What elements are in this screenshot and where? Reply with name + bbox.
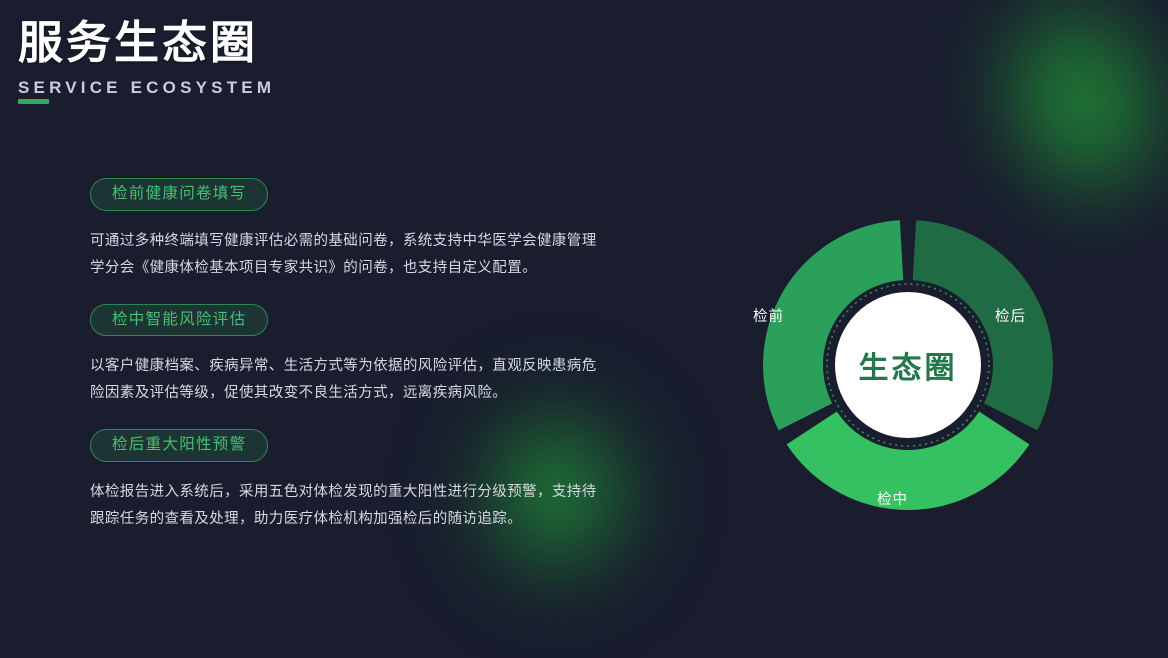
feature-block-1: 检前健康问卷填写 可通过多种终端填写健康评估必需的基础问卷，系统支持中华医学会健… bbox=[90, 178, 615, 282]
feature-text-1: 可通过多种终端填写健康评估必需的基础问卷，系统支持中华医学会健康管理学分会《健康… bbox=[90, 228, 602, 282]
feature-block-3: 检后重大阳性预警 体检报告进入系统后，采用五色对体检发现的重大阳性进行分级预警，… bbox=[90, 429, 615, 533]
feature-block-2: 检中智能风险评估 以客户健康档案、疾病异常、生活方式等为依据的风险评估，直观反映… bbox=[90, 304, 615, 408]
feature-pill-2[interactable]: 检中智能风险评估 bbox=[90, 304, 268, 337]
donut-center-circle bbox=[835, 292, 981, 438]
feature-text-3: 体检报告进入系统后，采用五色对体检发现的重大阳性进行分级预警，支持待跟踪任务的查… bbox=[90, 479, 602, 533]
background-glow-top-right bbox=[951, 0, 1168, 245]
page-title-cn: 服务生态圈 bbox=[18, 18, 438, 68]
page-header: 服务生态圈 SERVICE ECOSYSTEM bbox=[18, 18, 438, 102]
donut-svg bbox=[763, 220, 1053, 510]
page-title-en: SERVICE ECOSYSTEM bbox=[18, 78, 438, 98]
ecosystem-donut-chart: 生态圈 检前 检中 检后 bbox=[763, 220, 1053, 510]
feature-pill-3[interactable]: 检后重大阳性预警 bbox=[90, 429, 268, 462]
feature-list: 检前健康问卷填写 可通过多种终端填写健康评估必需的基础问卷，系统支持中华医学会健… bbox=[90, 178, 615, 533]
page-subtitle-wrap: SERVICE ECOSYSTEM bbox=[18, 78, 438, 102]
feature-text-2: 以客户健康档案、疾病异常、生活方式等为依据的风险评估，直观反映患病危险因素及评估… bbox=[90, 353, 602, 407]
title-accent-bar bbox=[18, 99, 49, 104]
slide-canvas: 服务生态圈 SERVICE ECOSYSTEM 检前健康问卷填写 可通过多种终端… bbox=[0, 0, 1168, 658]
feature-pill-1[interactable]: 检前健康问卷填写 bbox=[90, 178, 268, 211]
